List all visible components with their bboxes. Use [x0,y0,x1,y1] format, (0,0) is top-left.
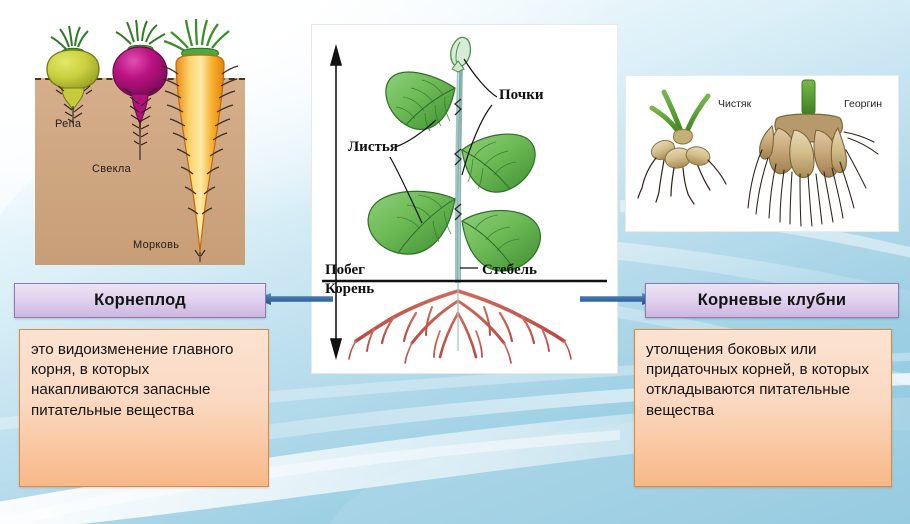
label-leaves: Листья [348,139,398,156]
label-dahlia: Георгин [844,98,882,110]
plant-anatomy-panel: Почки Листья Стебель Побег Корень [312,25,617,373]
vegetables-svg [0,0,300,272]
card-title-korneplod[interactable]: Корнеплод [14,283,266,318]
label-carrot: Морковь [133,239,179,251]
arrow-to-left-card [255,293,333,305]
turnip-graphic [47,26,99,124]
card-body-korneplod: это видоизменение главного корня, в кото… [19,329,269,487]
celandine-graphic [638,90,726,204]
slide-canvas: Репа Свекла Морковь [0,0,910,524]
label-buds: Почки [499,87,544,104]
label-beet: Свекла [92,163,131,175]
root-system-graphic [349,283,571,363]
label-shoot: Побег [325,262,365,279]
beet-graphic [113,20,167,160]
apical-bud-graphic [451,37,471,72]
label-stem: Стебель [482,262,537,279]
label-celandine: Чистяк [718,98,751,110]
card-body-kornevye-klubni: утолщения боковых или придаточных корней… [634,329,892,487]
plant-anatomy-svg [312,25,617,373]
axis-arrow [331,47,341,357]
card-body-text-left: это видоизменение главного корня, в кото… [31,340,259,421]
root-vegetables-illustration: Репа Свекла Морковь [0,0,300,272]
card-title-text-right: Корневые клубни [698,291,847,310]
card-body-text-right: утолщения боковых или придаточных корней… [646,340,882,421]
label-turnip: Репа [55,118,81,130]
card-title-text-left: Корнеплод [94,291,186,310]
card-title-kornevye-klubni[interactable]: Корневые клубни [645,283,899,318]
root-tubers-illustration: Чистяк Георгин [626,76,898,231]
carrot-graphic [162,19,238,262]
